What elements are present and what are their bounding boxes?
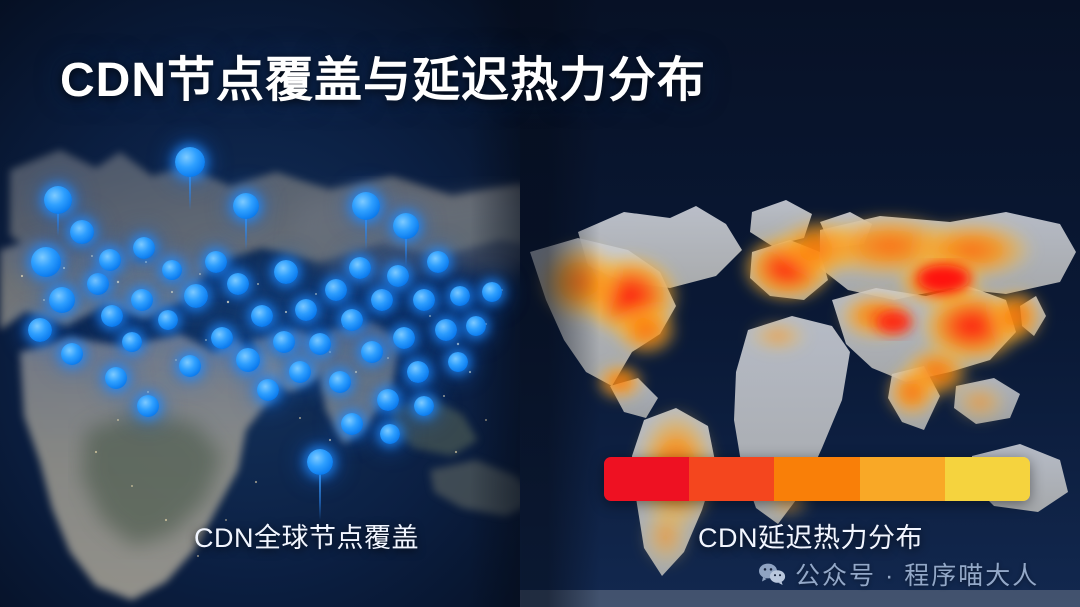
cdn-node-marker[interactable]	[393, 213, 419, 239]
cdn-node-marker[interactable]	[236, 348, 260, 372]
cdn-node-marker[interactable]	[349, 257, 371, 279]
cdn-node-marker[interactable]	[371, 289, 393, 311]
cdn-node-marker[interactable]	[413, 289, 435, 311]
cdn-node-marker[interactable]	[257, 379, 279, 401]
legend-segment-2	[689, 457, 774, 501]
cdn-node-marker[interactable]	[251, 305, 273, 327]
legend-segment-4	[860, 457, 945, 501]
slide-canvas: CDN节点覆盖与延迟热力分布 CDN全球节点覆盖 CDN延迟热力分布 公众号 ·…	[0, 0, 1080, 607]
cdn-node-marker[interactable]	[325, 279, 347, 301]
cdn-node-marker[interactable]	[309, 333, 331, 355]
cdn-node-marker[interactable]	[158, 310, 178, 330]
legend-segment-5	[945, 457, 1030, 501]
legend-segment-1	[604, 457, 689, 501]
cdn-node-marker[interactable]	[377, 389, 399, 411]
cdn-node-marker[interactable]	[137, 395, 159, 417]
cdn-node-marker[interactable]	[295, 299, 317, 321]
cdn-node-marker[interactable]	[329, 371, 351, 393]
cdn-node-marker[interactable]	[99, 249, 121, 271]
cdn-node-marker[interactable]	[131, 289, 153, 311]
watermark-text: 公众号 · 程序喵大人	[795, 556, 1039, 592]
caption-global-node-coverage: CDN全球节点覆盖	[194, 516, 419, 555]
cdn-node-marker[interactable]	[105, 367, 127, 389]
cdn-node-marker[interactable]	[274, 260, 298, 284]
latency-color-legend	[604, 457, 1030, 501]
cdn-node-marker[interactable]	[352, 192, 380, 220]
cdn-node-marker[interactable]	[61, 343, 83, 365]
cdn-node-marker[interactable]	[49, 287, 75, 313]
cdn-node-marker[interactable]	[407, 361, 429, 383]
cdn-node-marker[interactable]	[448, 352, 468, 372]
cdn-node-marker[interactable]	[361, 341, 383, 363]
cdn-node-marker[interactable]	[427, 251, 449, 273]
cdn-node-marker[interactable]	[227, 273, 249, 295]
cdn-node-marker[interactable]	[289, 361, 311, 383]
cdn-node-marker[interactable]	[44, 186, 72, 214]
cdn-node-marker[interactable]	[341, 309, 363, 331]
cdn-node-marker[interactable]	[87, 273, 109, 295]
cdn-node-marker[interactable]	[233, 193, 259, 219]
legend-segment-3	[774, 457, 859, 501]
cdn-node-marker[interactable]	[101, 305, 123, 327]
cdn-node-marker[interactable]	[28, 318, 52, 342]
cdn-node-marker[interactable]	[205, 251, 227, 273]
cdn-node-marker[interactable]	[31, 247, 61, 277]
cdn-node-marker[interactable]	[133, 237, 155, 259]
cdn-node-marker[interactable]	[122, 332, 142, 352]
cdn-node-marker[interactable]	[341, 413, 363, 435]
cdn-node-marker[interactable]	[466, 316, 486, 336]
page-title: CDN节点覆盖与延迟热力分布	[60, 40, 706, 110]
cdn-node-marker[interactable]	[179, 355, 201, 377]
watermark: 公众号 · 程序喵大人	[758, 556, 1039, 592]
cdn-node-marker[interactable]	[175, 147, 205, 177]
cdn-node-marker[interactable]	[435, 319, 457, 341]
wechat-icon	[758, 562, 786, 586]
cdn-node-marker[interactable]	[482, 282, 502, 302]
cdn-node-marker[interactable]	[387, 265, 409, 287]
cdn-node-marker[interactable]	[414, 396, 434, 416]
cdn-node-marker[interactable]	[273, 331, 295, 353]
cdn-node-marker[interactable]	[70, 220, 94, 244]
cdn-node-marker[interactable]	[393, 327, 415, 349]
caption-latency-heatmap: CDN延迟热力分布	[698, 516, 923, 555]
cdn-node-marker[interactable]	[380, 424, 400, 444]
cdn-node-marker[interactable]	[211, 327, 233, 349]
cdn-node-marker[interactable]	[307, 449, 333, 475]
cdn-node-marker[interactable]	[450, 286, 470, 306]
cdn-node-marker[interactable]	[162, 260, 182, 280]
cdn-node-marker[interactable]	[184, 284, 208, 308]
